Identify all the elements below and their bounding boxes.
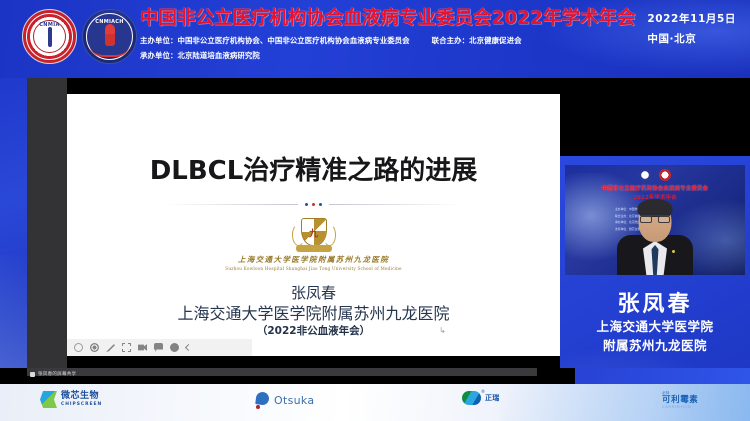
sponsor-bar: 微芯生物 CHIPSCREEN Otsuka ® 正瑞 必特 可利霉素 CARR… [0, 384, 750, 421]
viewer-left-gutter [27, 78, 67, 370]
screen-root: CNMIA CNMIACH 中国非公立医疗机构协会血液病专业委员会2022年学术… [0, 0, 750, 421]
panel-speaker-name: 张凤春 [560, 286, 750, 318]
sponsor-name-cn: 正瑞 [485, 393, 500, 403]
crest-name-cn: 上海交通大学医学院附属苏州九龙医院 [238, 254, 389, 265]
sponsor-name-en: CARRIMYCIN [662, 405, 691, 409]
chipscreen-logo-icon [40, 391, 57, 408]
slide-title: DLBCL治疗精准之路的进展 [67, 150, 560, 187]
screen-share-caption-row: 张凤春的屏幕共享 [30, 371, 76, 377]
sponsor-name-cn: 微芯生物 [61, 392, 102, 401]
cnmiach-committee-emblem-icon: CNMIACH [82, 9, 137, 64]
screen-share-caption: 张凤春的屏幕共享 [38, 371, 76, 377]
sponsor-carrimycin: 必特 可利霉素 CARRIMYCIN [662, 391, 698, 409]
video-emblem-left-icon [639, 169, 651, 181]
hospital-shield-icon: 九 [292, 218, 336, 252]
stage-left-backdrop [0, 78, 30, 375]
screen-share-icon [30, 372, 35, 377]
speaker-side-panel: 中国非公立医疗机构协会血液病专业委员会 2022年学术年会 主办单位：中国非公立… [560, 156, 750, 375]
sponsor-name-en: Otsuka [274, 394, 314, 407]
sponsor-chipscreen: 微芯生物 CHIPSCREEN [40, 391, 102, 408]
header-emblems: CNMIA CNMIACH [22, 9, 137, 64]
crest-monogram: 九 [309, 226, 318, 239]
conference-location: 中国·北京 [647, 31, 736, 46]
chat-icon[interactable] [154, 343, 163, 352]
co-organizer-line: 联合主办：北京健康促进会 [432, 35, 522, 46]
panel-speaker-org-line2: 附属苏州九龙医院 [560, 335, 750, 354]
video-icon[interactable] [138, 343, 147, 352]
meeting-toolbar[interactable] [67, 339, 252, 356]
slide-divider [164, 200, 464, 208]
screen-share-status-strip: 张凤春的屏幕共享 [0, 368, 750, 384]
crest-name-en: Suzhou Kowloon Hospital Shanghai Jiao To… [225, 266, 401, 271]
presentation-slide: DLBCL治疗精准之路的进展 九 上海交通大学医学院附属苏州九 [67, 94, 560, 356]
collapse-chevron-icon[interactable] [185, 344, 192, 351]
sponsor-zhengrui: ® 正瑞 [462, 391, 500, 405]
sponsor-name-en: CHIPSCREEN [61, 402, 102, 407]
stage-area: DLBCL治疗精准之路的进展 九 上海交通大学医学院附属苏州九 [0, 78, 750, 375]
record-dot-icon[interactable] [90, 343, 99, 352]
header-title-block: 中国非公立医疗机构协会血液病专业委员会2022年学术年会 主办单位：中国非公立医… [140, 8, 620, 61]
host-line: 承办单位：北京陆道培血液病研究院 [140, 50, 620, 61]
speaker-portrait [617, 201, 693, 275]
panel-speaker-org-line1: 上海交通大学医学院 [560, 316, 750, 335]
speaker-video-tile[interactable]: 中国非公立医疗机构协会血液病专业委员会 2022年学术年会 主办单位：中国非公立… [565, 165, 745, 275]
video-backdrop-emblems [639, 169, 671, 181]
zhengrui-logo-icon: ® [462, 391, 481, 405]
sponsor-otsuka: Otsuka [255, 392, 314, 409]
fullscreen-icon[interactable] [122, 343, 131, 352]
hospital-crest-block: 九 上海交通大学医学院附属苏州九龙医院 Suzhou Kowloon Hospi… [67, 218, 560, 271]
video-backdrop-title-line1: 中国非公立医疗机构协会血液病专业委员会 [565, 184, 745, 192]
conference-main-title: 中国非公立医疗机构协会血液病专业委员会2022年学术年会 [140, 8, 620, 29]
shared-screen-viewer[interactable]: DLBCL治疗精准之路的进展 九 上海交通大学医学院附属苏州九 [67, 78, 560, 375]
record-ring-icon[interactable] [74, 343, 83, 352]
organizer-line: 主办单位：中国非公立医疗机构协会、中国非公立医疗机构协会血液病专业委员会 [140, 35, 410, 46]
pencil-icon[interactable] [106, 343, 115, 352]
sponsor-name-cn: 可利霉素 [662, 396, 698, 405]
mouse-cursor-icon: ↳ [439, 326, 446, 335]
cnmia-association-emblem-icon: CNMIA [22, 9, 77, 64]
conference-header-banner: CNMIA CNMIACH 中国非公立医疗机构协会血液病专业委员会2022年学术… [0, 0, 750, 78]
globe-icon[interactable] [170, 343, 179, 352]
video-emblem-right-icon [659, 169, 671, 181]
conference-date-block: 2022年11月5日 中国·北京 [647, 11, 736, 46]
otsuka-logo-icon [255, 392, 270, 409]
slide-note: （2022非公血液年会） [67, 323, 560, 338]
conference-date: 2022年11月5日 [647, 11, 736, 26]
slide-speaker-org: 上海交通大学医学院附属苏州九龙医院 [67, 300, 560, 324]
